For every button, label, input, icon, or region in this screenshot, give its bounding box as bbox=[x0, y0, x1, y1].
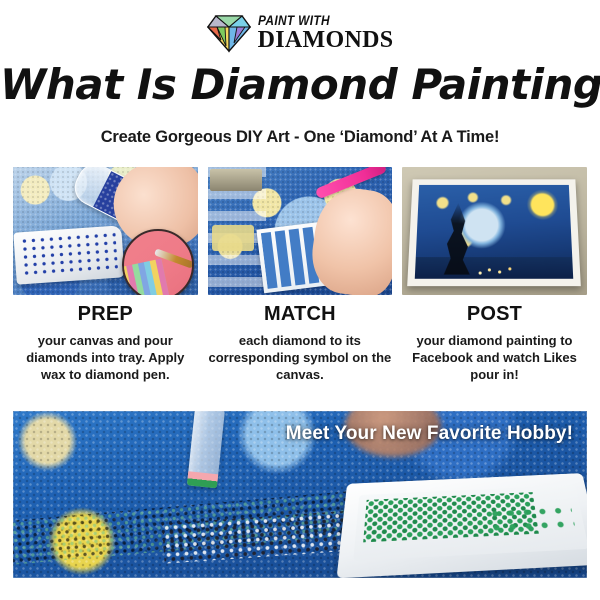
logo-line-diamonds: DIAMONDS bbox=[258, 28, 394, 52]
tray-well bbox=[353, 485, 587, 561]
logo-wordmark: PAINT WITH DIAMONDS bbox=[258, 14, 394, 53]
green-diamonds-scattered bbox=[487, 503, 576, 537]
inset-color-beads bbox=[122, 258, 170, 295]
diamond-pen-closeup-inset bbox=[122, 229, 194, 295]
page-title: What Is Diamond Painting? bbox=[0, 60, 600, 109]
bag-top bbox=[210, 169, 262, 191]
step-title: MATCH bbox=[208, 303, 393, 326]
finished-canvas-board bbox=[407, 179, 581, 286]
step-title: PREP bbox=[13, 303, 198, 326]
starry-night-artwork bbox=[415, 185, 573, 279]
step-body: your diamond painting to Facebook and wa… bbox=[402, 332, 587, 383]
step-photo-post bbox=[402, 167, 587, 295]
step-body: each diamond to its corresponding symbol… bbox=[208, 332, 393, 383]
hero-banner: Meet Your New Favorite Hobby! bbox=[13, 411, 587, 578]
step-photo-prep bbox=[13, 167, 198, 295]
step-photos bbox=[13, 167, 587, 295]
page-subtitle: Create Gorgeous DIY Art - One ‘Diamond’ … bbox=[0, 128, 600, 147]
diamond-gem-icon bbox=[207, 13, 251, 53]
banner-diamond-tray bbox=[337, 473, 587, 578]
diamond-tray bbox=[13, 225, 124, 284]
tray-beads bbox=[20, 231, 118, 277]
bag-yellow-diamonds bbox=[212, 225, 254, 251]
step-title: POST bbox=[402, 303, 587, 326]
step-caption-post: POST your diamond painting to Facebook a… bbox=[402, 303, 587, 383]
banner-headline: Meet Your New Favorite Hobby! bbox=[286, 423, 573, 445]
step-caption-prep: PREP your canvas and pour diamonds into … bbox=[13, 303, 198, 383]
logo-line-paint-with: PAINT WITH bbox=[258, 14, 377, 28]
brand-logo[interactable]: PAINT WITH DIAMONDS bbox=[0, 8, 600, 58]
step-caption-match: MATCH each diamond to its corresponding … bbox=[208, 303, 393, 383]
artwork-village bbox=[415, 257, 573, 279]
step-photo-match bbox=[208, 167, 393, 295]
pen-tip bbox=[187, 471, 218, 488]
step-captions: PREP your canvas and pour diamonds into … bbox=[13, 303, 587, 383]
step-body: your canvas and pour diamonds into tray.… bbox=[13, 332, 198, 383]
